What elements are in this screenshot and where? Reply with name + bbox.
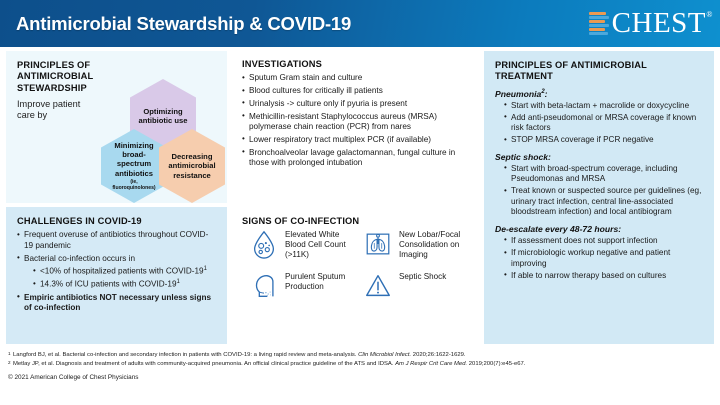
treatment-group-heading-pneumonia: Pneumonia2: [495, 89, 704, 99]
head-sputum-icon [249, 271, 279, 301]
hexagon-cluster: Optimizing antibiotic use Minimizing bro… [101, 79, 225, 199]
treatment-list-pneumonia: Start with beta-lactam + macrolide or do… [504, 101, 704, 146]
footnote-marker: 1 [204, 266, 207, 272]
signs-title: SIGNS OF CO-INFECTION [242, 216, 470, 227]
challenges-list: Frequent overuse of antibiotics througho… [17, 230, 217, 313]
panel-principles-stewardship: PRINCIPLES OF ANTIMICROBIAL STEWARDSHIP … [6, 51, 227, 203]
list-item: 14.3% of ICU patients with COVID-191 [33, 279, 217, 290]
footnotes-area: 1Langford BJ, et al. Bacterial co-infect… [0, 348, 720, 405]
list-item: Methicillin-resistant Staphylococcus aur… [242, 112, 470, 133]
hexagon-label: Minimizing broad-spectrum antibiotics (i… [101, 141, 167, 191]
principles-lead: Improve patient care by [17, 99, 96, 122]
footnote-marker: 1 [177, 279, 180, 285]
hexagon-label: Decreasing antimicrobial resistance [159, 152, 225, 179]
registered-mark: ® [706, 11, 713, 19]
chest-logo-mark-icon [589, 11, 609, 37]
sign-septic-shock: Septic Shock [363, 271, 471, 301]
list-item: Sputum Gram stain and culture [242, 73, 470, 83]
sign-new-consolidation: New Lobar/Focal Consolidation on Imaging [363, 229, 471, 261]
sign-purulent-sputum: Purulent Sputum Production [249, 271, 357, 301]
treatment-list-de-escalate: If assessment does not support infection… [504, 236, 704, 281]
footnote-journal: Am J Respir Crit Care Med. [395, 361, 467, 367]
investigations-list: Sputum Gram stain and culture Blood cult… [242, 73, 470, 168]
principles-title: PRINCIPLES OF ANTIMICROBIAL STEWARDSHIP [17, 60, 96, 94]
group-heading-label: Pneumonia [495, 89, 541, 99]
sign-label: New Lobar/Focal Consolidation on Imaging [399, 229, 471, 261]
footnote-1: 1Langford BJ, et al. Bacterial co-infect… [8, 352, 712, 360]
list-item: If able to narrow therapy based on cultu… [504, 271, 704, 282]
list-item: Start with beta-lactam + macrolide or do… [504, 101, 704, 112]
list-item-label: <10% of hospitalized patients with COVID… [40, 267, 204, 276]
list-item: Empiric antibiotics NOT necessary unless… [17, 293, 217, 314]
header-bar: Antimicrobial Stewardship & COVID-19 CHE… [0, 0, 720, 47]
list-item: <10% of hospitalized patients with COVID… [33, 266, 217, 277]
footnote-marker: 2 [8, 360, 11, 366]
infographic-page: Antimicrobial Stewardship & COVID-19 CHE… [0, 0, 720, 405]
chest-logo: CHEST® [589, 9, 706, 38]
footnote-marker: 1 [8, 351, 11, 357]
treatment-title: PRINCIPLES OF ANTIMICROBIAL TREATMENT [495, 60, 704, 83]
blood-drop-icon [249, 229, 279, 259]
signs-grid: Elevated White Blood Cell Count (>11K) N… [249, 229, 471, 301]
list-item: If microbiologic workup negative and pat… [504, 248, 704, 269]
list-item: Treat known or suspected source per guid… [504, 186, 704, 218]
footnote-2: 2Metlay JP, et al. Diagnosis and treatme… [8, 361, 712, 369]
lungs-xray-icon [363, 229, 393, 259]
treatment-list-septic-shock: Start with broad-spectrum coverage, incl… [504, 164, 704, 218]
hexagon-sublabel: (ie, fluoroquinolones) [105, 179, 163, 191]
panel-challenges-covid19: CHALLENGES IN COVID-19 Frequent overuse … [6, 207, 227, 344]
sign-label: Purulent Sputum Production [285, 271, 357, 292]
challenges-title: CHALLENGES IN COVID-19 [17, 216, 217, 227]
warning-triangle-icon [363, 271, 393, 301]
list-item: STOP MRSA coverage if PCR negative [504, 135, 704, 146]
list-item: Blood cultures for critically ill patien… [242, 86, 470, 96]
group-heading-suffix: : [545, 89, 548, 99]
page-title: Antimicrobial Stewardship & COVID-19 [16, 13, 351, 35]
footnote-text: Langford BJ, et al. Bacterial co-infecti… [13, 352, 358, 358]
panel-treatment-principles: PRINCIPLES OF ANTIMICROBIAL TREATMENT Pn… [484, 51, 714, 344]
list-item: Lower respiratory tract multiplex PCR (i… [242, 135, 470, 145]
sign-label: Elevated White Blood Cell Count (>11K) [285, 229, 357, 261]
list-item: Start with broad-spectrum coverage, incl… [504, 164, 704, 185]
panel-investigations: INVESTIGATIONS Sputum Gram stain and cul… [231, 51, 480, 203]
list-item-label: 14.3% of ICU patients with COVID-19 [40, 280, 177, 289]
footnote-tail: 2019;200(7):e45-e67. [467, 361, 525, 367]
copyright-text: © 2021 American College of Chest Physici… [8, 374, 712, 381]
challenges-sublist: <10% of hospitalized patients with COVID… [33, 266, 217, 290]
list-item: Bacterial co-infection occurs in <10% of… [17, 254, 217, 291]
footnote-text: Metlay JP, et al. Diagnosis and treatmen… [13, 361, 395, 367]
treatment-group-heading-septic-shock: Septic shock: [495, 152, 704, 162]
chest-logo-text: CHEST [612, 7, 706, 39]
list-item: If assessment does not support infection [504, 236, 704, 247]
investigations-title: INVESTIGATIONS [242, 59, 470, 70]
chest-logo-wordmark: CHEST® [612, 9, 706, 38]
hexagon-label-main: Minimizing broad-spectrum antibiotics [105, 141, 163, 177]
footnote-journal: Clin Microbiol Infect. [358, 352, 411, 358]
list-item: Urinalysis -> culture only if pyuria is … [242, 99, 470, 109]
list-item: Add anti-pseudomonal or MRSA coverage if… [504, 113, 704, 134]
list-item: Frequent overuse of antibiotics througho… [17, 230, 217, 251]
list-item-label: Bacterial co-infection occurs in [24, 254, 135, 263]
list-item: Bronchoalveolar lavage galactomannan, fu… [242, 148, 470, 169]
panel-signs-of-coinfection: SIGNS OF CO-INFECTION Elevated White Blo… [231, 207, 480, 344]
footnote-tail: 2020;26:1622-1629. [411, 352, 465, 358]
treatment-group-heading-de-escalate: De-escalate every 48-72 hours: [495, 224, 704, 234]
sign-label: Septic Shock [399, 271, 446, 282]
sign-elevated-wbc: Elevated White Blood Cell Count (>11K) [249, 229, 357, 261]
content-area: PRINCIPLES OF ANTIMICROBIAL STEWARDSHIP … [0, 47, 720, 348]
hexagon-label: Optimizing antibiotic use [130, 107, 196, 125]
